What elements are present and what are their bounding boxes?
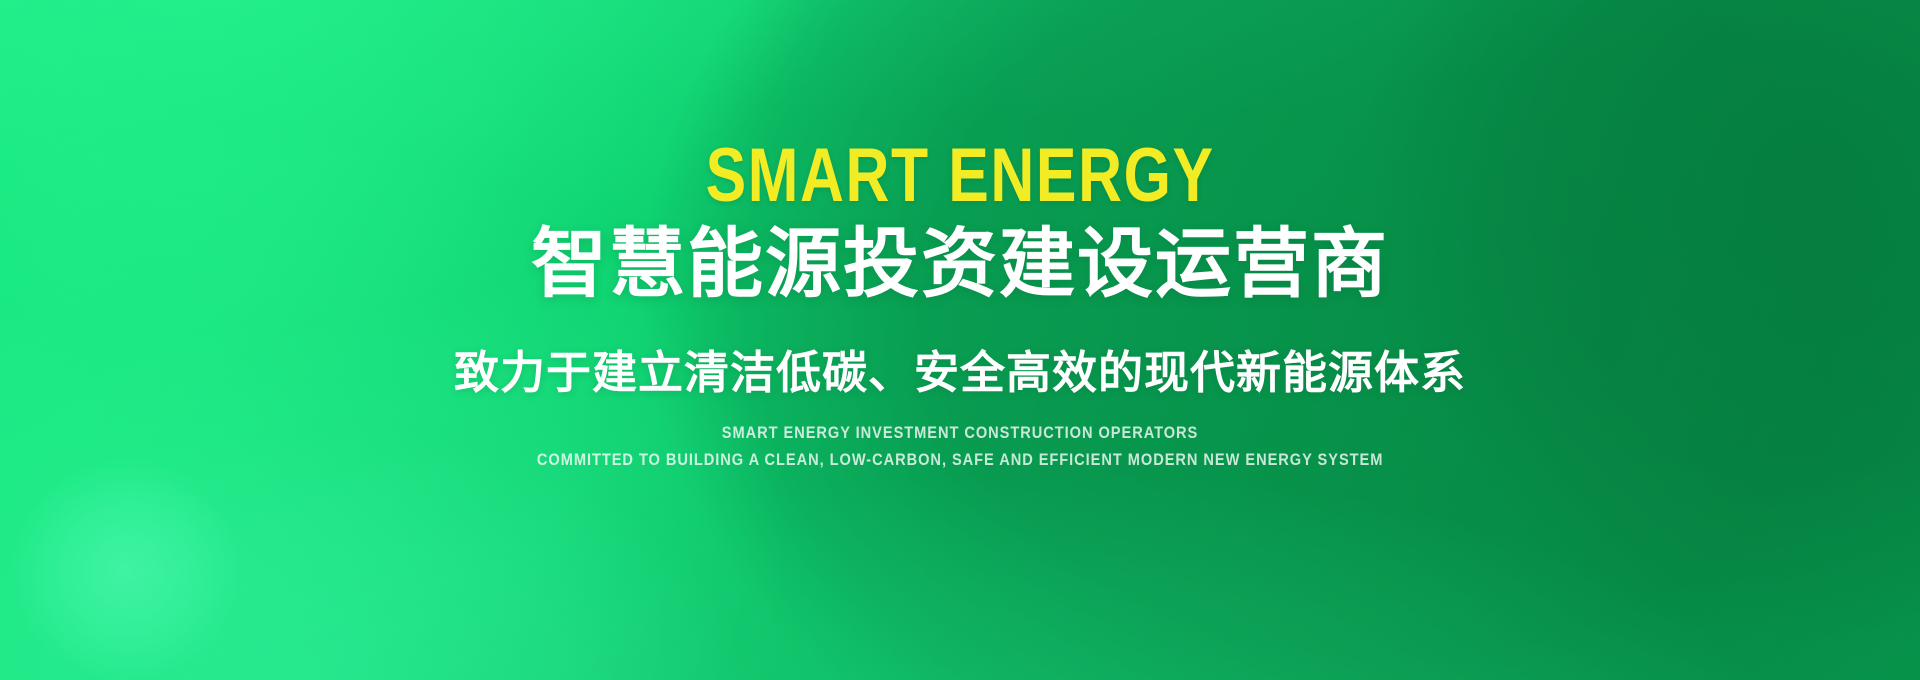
banner-content: SMART ENERGY 智慧能源投资建设运营商 致力于建立清洁低碳、安全高效的… — [0, 0, 1920, 680]
headline-chinese: 智慧能源投资建设运营商 — [531, 224, 1389, 306]
caption-group: SMART ENERGY INVESTMENT CONSTRUCTION OPE… — [468, 422, 1452, 472]
caption-line-2: COMMITTED TO BUILDING A CLEAN, LOW-CARBO… — [537, 449, 1383, 472]
subtitle-chinese: 致力于建立清洁低碳、安全高效的现代新能源体系 — [454, 346, 1466, 400]
hero-banner: SMART ENERGY 智慧能源投资建设运营商 致力于建立清洁低碳、安全高效的… — [0, 0, 1920, 680]
headline-english: SMART ENERGY — [705, 138, 1214, 214]
caption-line-1: SMART ENERGY INVESTMENT CONSTRUCTION OPE… — [722, 422, 1198, 445]
